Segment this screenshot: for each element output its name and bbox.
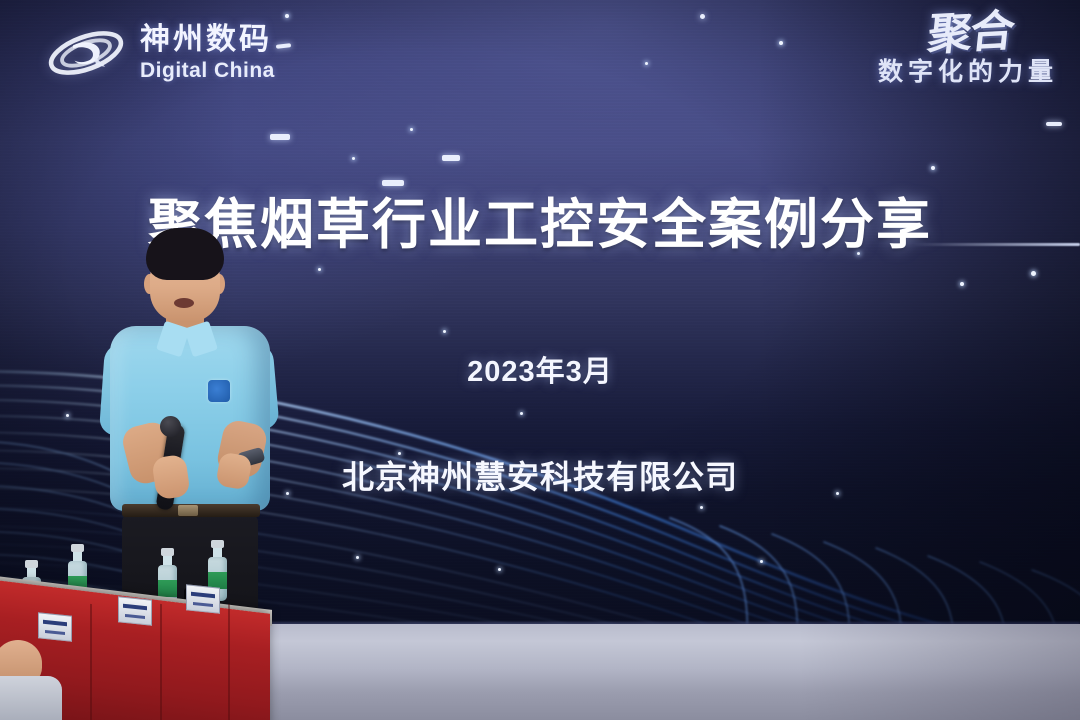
bottle-neck — [27, 568, 36, 577]
name-card — [186, 584, 220, 614]
stage-photo-scene: 神州数码 Digital China 聚合 数字化的力量 聚焦烟草行业工控安全案… — [0, 0, 1080, 720]
digital-china-swirl-icon — [44, 22, 128, 84]
chest-logo-patch-icon — [208, 380, 230, 402]
table-cloth-fold — [90, 604, 92, 720]
brand-wordmark: 神州数码 Digital China — [140, 25, 275, 81]
bottle-label — [158, 580, 177, 597]
bottle-neck — [73, 552, 82, 561]
belt-buckle-icon — [178, 505, 198, 516]
speaker-figure — [96, 228, 286, 624]
brand-name-cn: 神州数码 — [140, 25, 275, 55]
event-calligraphy: 聚合 — [875, 11, 1014, 60]
table-cloth-fold — [160, 604, 162, 720]
event-mark: 聚合 数字化的力量 — [878, 14, 1058, 88]
speaker-mouth — [174, 298, 194, 308]
name-card-text-line — [43, 620, 67, 627]
bottle-neck — [213, 548, 222, 557]
name-card — [38, 612, 72, 642]
speaker-hair — [146, 228, 224, 280]
bottle-cap — [211, 540, 224, 548]
bottle-cap — [25, 560, 38, 568]
name-card-text-line — [193, 602, 213, 607]
bottle-cap — [71, 544, 84, 552]
name-card-text-line — [45, 630, 65, 635]
table-cloth-fold — [228, 604, 230, 720]
bottle-cap — [161, 548, 174, 556]
brand-name-en: Digital China — [140, 60, 275, 81]
name-card — [118, 596, 152, 626]
seated-attendee-body — [0, 676, 62, 720]
bottle-neck — [163, 556, 172, 565]
brand-logo: 神州数码 Digital China — [44, 22, 275, 84]
name-card-text-line — [123, 604, 147, 611]
name-card-text-line — [125, 614, 145, 619]
name-card-text-line — [191, 592, 215, 599]
